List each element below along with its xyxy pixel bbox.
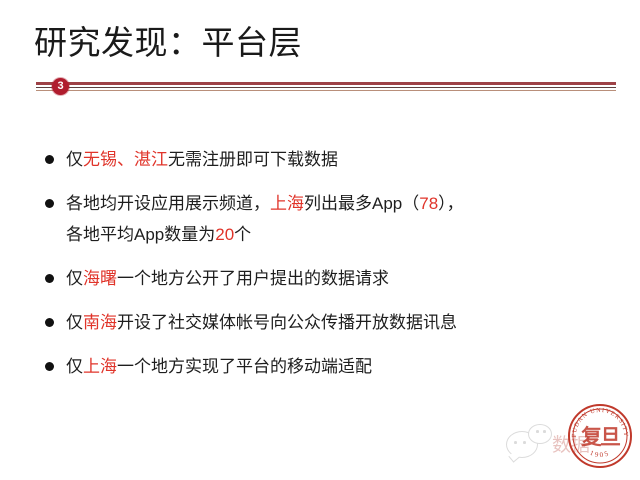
text-run: 一个地方实现了平台的移动端适配 bbox=[117, 357, 372, 376]
text-run: 一个地方公开了用户提出的数据请求 bbox=[117, 269, 389, 288]
bullet-marker-icon bbox=[45, 199, 54, 208]
bullet-line: 各地均开设应用展示频道，上海列出最多App（78）， bbox=[66, 188, 620, 219]
text-run: 仅 bbox=[66, 357, 83, 376]
divider-line-thin-lower bbox=[36, 90, 616, 91]
wechat-eye-dot bbox=[514, 441, 517, 444]
text-run: 仅 bbox=[66, 150, 83, 169]
bullet-marker-icon bbox=[45, 274, 54, 283]
list-item: 仅上海一个地方实现了平台的移动端适配 bbox=[40, 351, 620, 382]
bullet-marker-icon bbox=[45, 318, 54, 327]
page-number-badge: 3 bbox=[52, 78, 69, 95]
text-run-highlight: 上海 bbox=[83, 357, 117, 376]
list-item: 仅海曙一个地方公开了用户提出的数据请求 bbox=[40, 263, 620, 294]
title-divider bbox=[36, 80, 616, 94]
text-run: 各地平均App数量为 bbox=[66, 225, 215, 244]
list-item: 仅南海开设了社交媒体帐号向公众传播开放数据讯息 bbox=[40, 307, 620, 338]
wechat-eye-dot bbox=[536, 430, 539, 433]
text-run-highlight: 78 bbox=[419, 194, 438, 213]
list-item: 仅无锡、湛江无需注册即可下载数据 bbox=[40, 144, 620, 175]
wechat-eye-dot bbox=[543, 430, 546, 433]
divider-line-thin-upper bbox=[36, 87, 616, 88]
fudan-university-seal-icon: FUDAN UNIVERSITY 1905 复旦 bbox=[566, 402, 634, 470]
text-run: 仅 bbox=[66, 313, 83, 332]
bullet-line: 仅海曙一个地方公开了用户提出的数据请求 bbox=[66, 263, 620, 294]
text-run-highlight: 上海 bbox=[270, 194, 304, 213]
bullet-marker-icon bbox=[45, 362, 54, 371]
text-run-highlight: 海曙 bbox=[83, 269, 117, 288]
bullet-line: 仅上海一个地方实现了平台的移动端适配 bbox=[66, 351, 620, 382]
text-run-highlight: 南海 bbox=[83, 313, 117, 332]
seal-center-text: 复旦 bbox=[566, 402, 634, 470]
text-run: 列出最多App（ bbox=[304, 194, 419, 213]
text-run: 个 bbox=[234, 225, 251, 244]
wechat-bubble-small bbox=[528, 424, 552, 444]
bullet-marker-icon bbox=[45, 155, 54, 164]
text-run: ）， bbox=[438, 194, 464, 213]
bullet-list: 仅无锡、湛江无需注册即可下载数据 各地均开设应用展示频道，上海列出最多App（7… bbox=[40, 144, 620, 395]
bullet-line: 仅无锡、湛江无需注册即可下载数据 bbox=[66, 144, 620, 175]
list-item: 各地均开设应用展示频道，上海列出最多App（78）， 各地平均App数量为20个 bbox=[40, 188, 620, 250]
wechat-eye-dot bbox=[523, 441, 526, 444]
watermark-group: 数据 FUDAN UNIVERSITY 1905 复旦 bbox=[500, 392, 636, 474]
slide-canvas: 研究发现：平台层 3 仅无锡、湛江无需注册即可下载数据 各地均开设应用展示频道，… bbox=[0, 0, 640, 480]
bullet-line: 各地平均App数量为20个 bbox=[66, 219, 620, 250]
text-run: 仅 bbox=[66, 269, 83, 288]
text-run: 开设了社交媒体帐号向公众传播开放数据讯息 bbox=[117, 313, 457, 332]
divider-line-thick bbox=[36, 82, 616, 85]
bullet-line: 仅南海开设了社交媒体帐号向公众传播开放数据讯息 bbox=[66, 307, 620, 338]
text-run: 各地均开设应用展示频道， bbox=[66, 194, 270, 213]
wechat-logo-icon bbox=[506, 424, 552, 458]
text-run: 无需注册即可下载数据 bbox=[168, 150, 338, 169]
text-run-highlight: 20 bbox=[215, 225, 234, 244]
wechat-bubble-tail bbox=[508, 451, 519, 462]
page-title: 研究发现：平台层 bbox=[34, 22, 302, 64]
text-run-highlight: 无锡、湛江 bbox=[83, 150, 168, 169]
